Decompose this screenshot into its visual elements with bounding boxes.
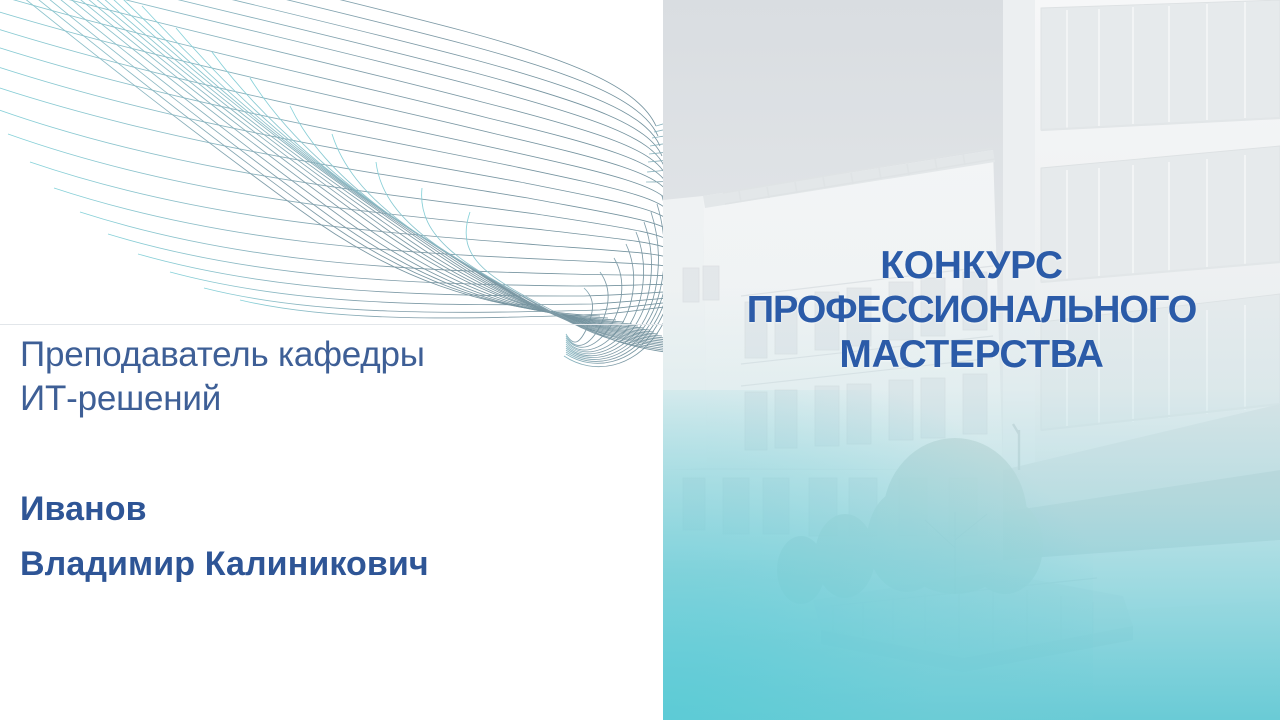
- presenter-given-name: Владимир Калиникович: [20, 537, 640, 592]
- slide-title: КОНКУРС ПРОФЕССИОНАЛЬНОГО МАСТЕРСТВА: [663, 243, 1280, 378]
- left-panel: Преподаватель кафедры ИТ-решений Иванов …: [0, 0, 663, 720]
- teal-corner-glow: [663, 390, 1093, 720]
- slide-title-line-2: ПРОФЕССИОНАЛЬНОГО: [671, 288, 1272, 332]
- presenter-surname: Иванов: [20, 482, 640, 537]
- left-text-block: Преподаватель кафедры ИТ-решений Иванов …: [20, 333, 640, 592]
- presenter-name-block: Иванов Владимир Калиникович: [20, 482, 640, 592]
- title-slide: Преподаватель кафедры ИТ-решений Иванов …: [0, 0, 1280, 720]
- slide-title-line-1: КОНКУРС: [671, 243, 1272, 288]
- abstract-wave-swirl-icon: [0, 0, 663, 380]
- right-panel: КОНКУРС ПРОФЕССИОНАЛЬНОГО МАСТЕРСТВА: [663, 0, 1280, 720]
- presenter-role: Преподаватель кафедры ИТ-решений: [20, 333, 640, 422]
- horizontal-divider: [0, 324, 663, 325]
- slide-title-line-3: МАСТЕРСТВА: [671, 332, 1272, 377]
